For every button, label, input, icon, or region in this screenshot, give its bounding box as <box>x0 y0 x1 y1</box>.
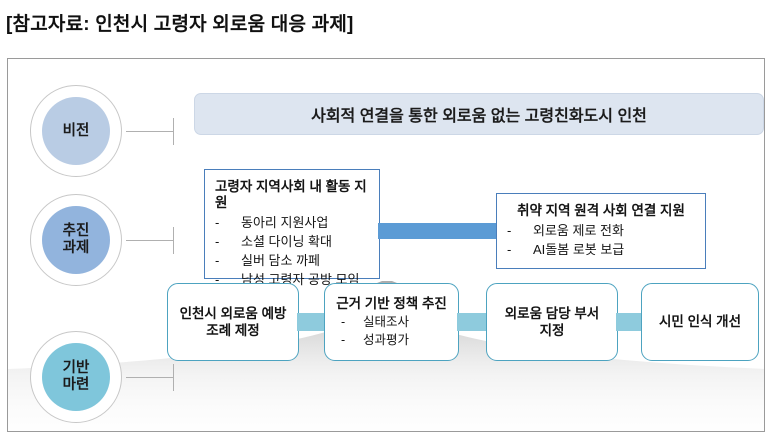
dash-marker: - <box>215 233 241 252</box>
stage-circle-task-label: 추진 과제 <box>42 206 110 274</box>
connector-task <box>126 240 174 241</box>
list-item: - 소셜 다이닝 확대 <box>215 233 369 252</box>
task-item-list: - 동아리 지원사업 - 소셜 다이닝 확대 - 실버 담소 까페 - 남성 고… <box>215 214 369 290</box>
list-item: - AI돌봄 로봇 보급 <box>507 241 695 260</box>
list-item: - 실버 담소 까페 <box>215 252 369 271</box>
foundation-item-list: - 실태조사 - 성과평가 <box>333 314 450 349</box>
list-item: - 동아리 지원사업 <box>215 214 369 233</box>
connector-vision <box>126 131 174 132</box>
task-box-title: 취약 지역 원격 사회 연결 지원 <box>507 203 695 219</box>
foundation-connector-bar <box>616 313 643 331</box>
task-box-title: 고령자 지역사회 내 활동 지원 <box>215 179 369 211</box>
list-item-label: 성과평가 <box>363 332 450 350</box>
stage-circle-vision: 비전 <box>30 85 122 177</box>
task-box-remote-connection: 취약 지역 원격 사회 연결 지원 - 외로움 제로 전화 - AI돌봄 로봇 … <box>496 193 706 269</box>
connector-foundation <box>126 377 174 378</box>
foundation-box-ordinance: 인천시 외로움 예방 조례 제정 <box>167 283 299 361</box>
foundation-connector-bar <box>297 313 326 331</box>
task-connector-bar <box>378 223 498 239</box>
list-item-label: AI돌봄 로봇 보급 <box>533 241 695 260</box>
foundation-box-title: 인천시 외로움 예방 조례 제정 <box>180 305 287 340</box>
list-item-label: 소셜 다이닝 확대 <box>241 233 369 252</box>
foundation-box-awareness: 시민 인식 개선 <box>641 283 759 361</box>
foundation-box-title: 외로움 담당 부서 지정 <box>505 305 599 340</box>
list-item: - 성과평가 <box>341 332 450 350</box>
stage-circle-foundation: 기반 마련 <box>30 331 122 423</box>
dash-marker: - <box>341 314 363 332</box>
list-item-label: 외로움 제로 전화 <box>533 222 695 241</box>
list-item-label: 동아리 지원사업 <box>241 214 369 233</box>
dash-marker: - <box>341 332 363 350</box>
foundation-box-title: 시민 인식 개선 <box>659 313 741 330</box>
foundation-box-department: 외로움 담당 부서 지정 <box>486 283 618 361</box>
stage-circle-task: 추진 과제 <box>30 194 122 286</box>
list-item: - 외로움 제로 전화 <box>507 222 695 241</box>
task-box-community-activity: 고령자 지역사회 내 활동 지원 - 동아리 지원사업 - 소셜 다이닝 확대 … <box>204 169 380 279</box>
list-item-label: 실태조사 <box>363 314 450 332</box>
stage-circle-foundation-label: 기반 마련 <box>42 343 110 411</box>
dash-marker: - <box>507 222 533 241</box>
page-title: [참고자료: 인천시 고령자 외로움 대응 과제] <box>6 9 354 36</box>
stage-circle-vision-label: 비전 <box>42 97 110 165</box>
dash-marker: - <box>507 241 533 260</box>
task-item-list: - 외로움 제로 전화 - AI돌봄 로봇 보급 <box>507 222 695 260</box>
foundation-connector-bar <box>457 313 488 331</box>
vision-banner: 사회적 연결을 통한 외로움 없는 고령친화도시 인천 <box>194 93 764 135</box>
dash-marker: - <box>215 214 241 233</box>
foundation-box-evidence-policy: 근거 기반 정책 추진 - 실태조사 - 성과평가 <box>324 283 459 361</box>
diagram-frame: 비전 추진 과제 기반 마련 사회적 연결을 통한 외로움 없는 고령친화도시 … <box>7 58 765 432</box>
dash-marker: - <box>215 252 241 271</box>
foundation-box-title: 근거 기반 정책 추진 <box>336 295 447 312</box>
list-item: - 실태조사 <box>341 314 450 332</box>
list-item-label: 실버 담소 까페 <box>241 252 369 271</box>
